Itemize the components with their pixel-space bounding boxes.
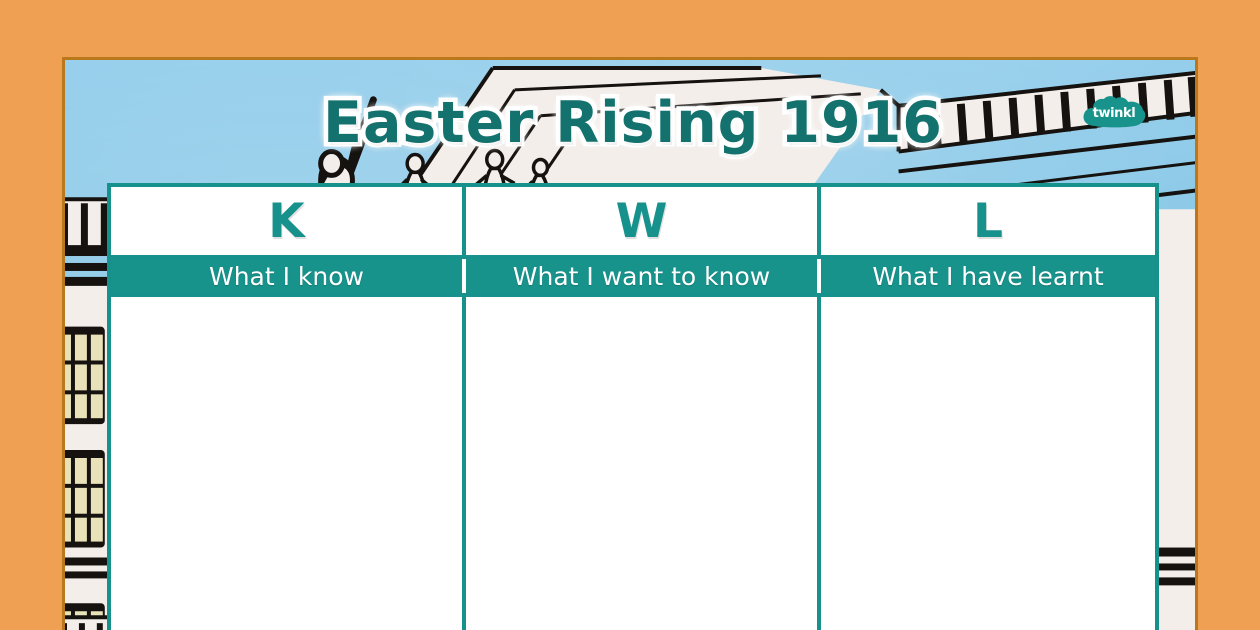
page-title: Easter Rising 1916: [65, 90, 1198, 156]
kwl-table: K W L What I know What I want to know: [107, 183, 1159, 630]
facade-window: [65, 327, 105, 425]
kwl-letter-cell-w: W: [462, 187, 817, 255]
twinkl-logo: twinkl: [1081, 96, 1147, 130]
kwl-subhead-cell-l: What I have learnt: [817, 259, 1155, 293]
kwl-body-row: [111, 297, 1155, 630]
kwl-letter-cell-l: L: [817, 187, 1155, 255]
facade-window: [65, 450, 105, 548]
poster-page: .cream { fill:#f3eeea; } .cream2{ fill:#…: [0, 0, 1260, 630]
kwl-subhead-w: What I want to know: [513, 264, 770, 289]
kwl-subhead-cell-w: What I want to know: [462, 259, 817, 293]
kwl-subhead-row: What I know What I want to know What I h…: [111, 255, 1155, 297]
kwl-letter-k: K: [268, 198, 304, 245]
kwl-letter-row: K W L: [111, 187, 1155, 255]
kwl-letter-w: W: [616, 198, 668, 245]
kwl-body-cell-k[interactable]: [111, 297, 462, 630]
kwl-body-cell-l[interactable]: [817, 297, 1155, 630]
twinkl-wordmark: twinkl: [1081, 96, 1147, 130]
kwl-subhead-l: What I have learnt: [872, 264, 1103, 289]
kwl-subhead-k: What I know: [209, 264, 364, 289]
kwl-subhead-cell-k: What I know: [111, 259, 462, 293]
kwl-letter-cell-k: K: [111, 187, 462, 255]
kwl-body-cell-w[interactable]: [462, 297, 817, 630]
poster-canvas: .cream { fill:#f3eeea; } .cream2{ fill:#…: [62, 57, 1198, 630]
kwl-letter-l: L: [973, 198, 1003, 245]
